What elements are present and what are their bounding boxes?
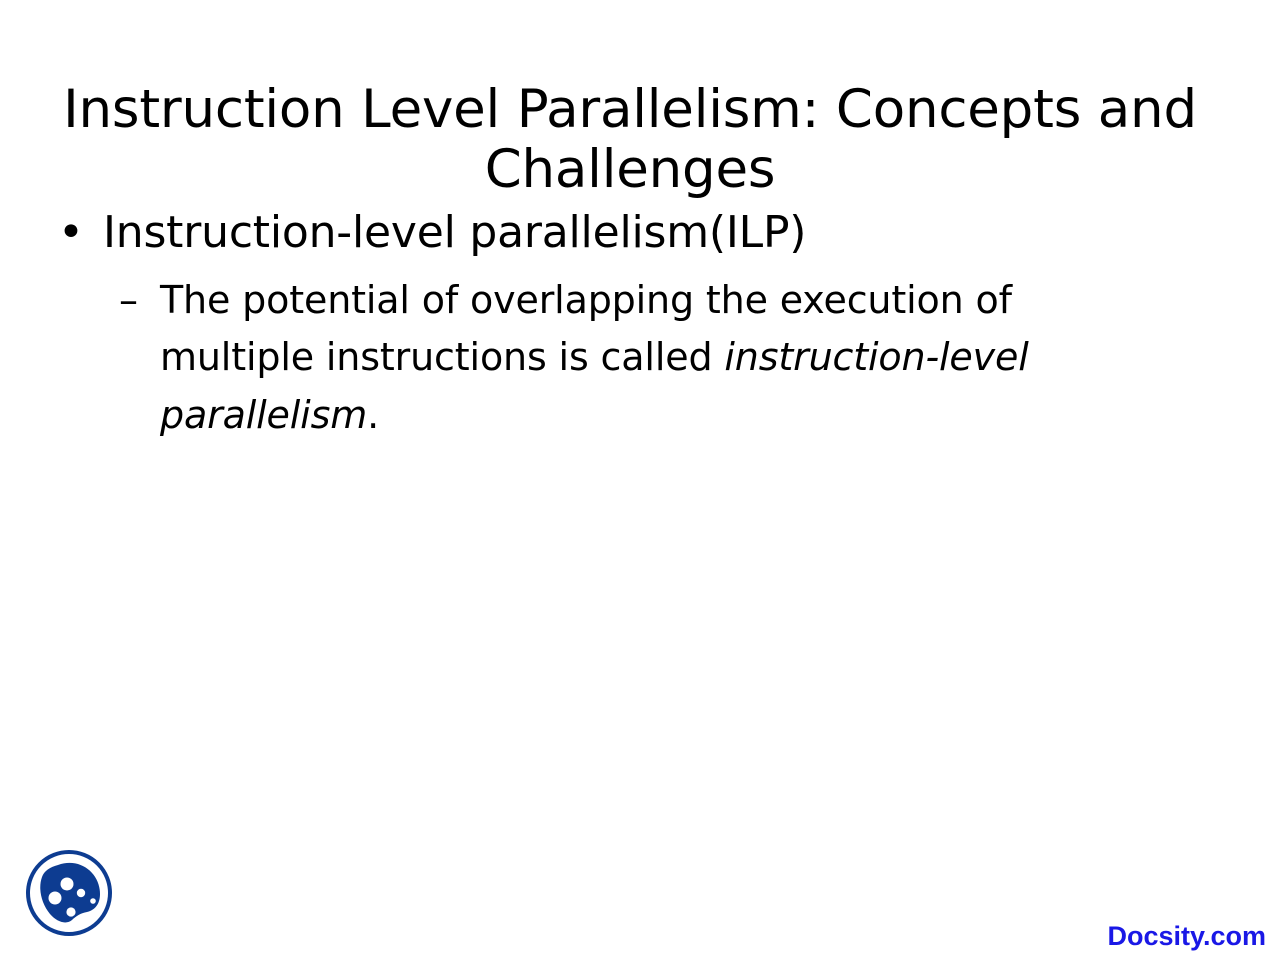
- bullet-level1: • Instruction-level parallelism(ILP): [0, 206, 1180, 260]
- title-line-1: Instruction Level Parallelism: Concepts: [63, 79, 1081, 140]
- docsity-watermark: Docsity.com: [1107, 921, 1266, 952]
- page-title: Instruction Level Parallelism: Concepts …: [40, 80, 1220, 201]
- bullet-marker-dot: •: [58, 206, 84, 260]
- slide-canvas: Instruction Level Parallelism: Concepts …: [0, 0, 1280, 960]
- bullet-level1-text: Instruction-level parallelism(ILP): [103, 207, 806, 258]
- bullet-level2-text-end: .: [367, 393, 379, 437]
- bullet-marker-dash: –: [119, 272, 138, 330]
- docsity-logo: [24, 846, 116, 940]
- bullet-level2: –The potential of overlapping the execut…: [0, 272, 1180, 445]
- slide-body: • Instruction-level parallelism(ILP) –Th…: [0, 206, 1180, 445]
